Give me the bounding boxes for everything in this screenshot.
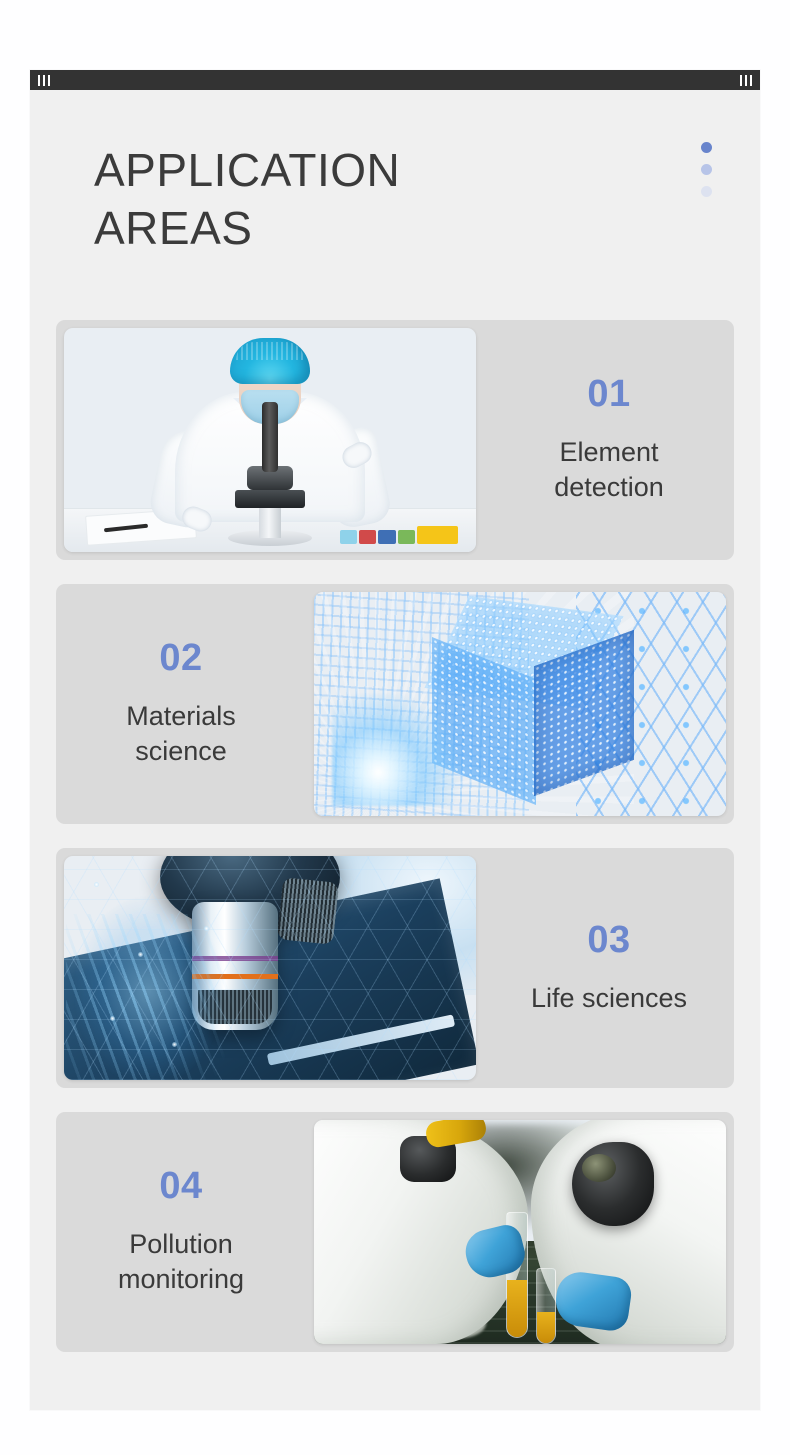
card-life-sciences[interactable]: 03 Life sciences xyxy=(56,848,734,1088)
card-number: 03 xyxy=(498,921,720,959)
pagination-dots[interactable] xyxy=(701,142,712,197)
card-number: 04 xyxy=(70,1167,292,1205)
menu-bars-icon-right[interactable] xyxy=(740,75,752,86)
application-area-list: 01 Element detection xyxy=(56,320,734,1352)
card-label: Life sciences xyxy=(498,981,720,1016)
card-text-element-detection: 01 Element detection xyxy=(484,375,734,504)
card-label: Pollution monitoring xyxy=(70,1227,292,1296)
card-number: 02 xyxy=(70,639,292,677)
card-text-pollution-monitoring: 04 Pollution monitoring xyxy=(56,1167,306,1296)
card-pollution-monitoring[interactable]: 04 Pollution monitoring xyxy=(56,1112,734,1352)
page-header: APPLICATION AREAS xyxy=(56,90,734,320)
card-label: Materials science xyxy=(70,699,292,768)
card-number: 01 xyxy=(498,375,720,413)
window-titlebar xyxy=(30,70,760,90)
browser-window: APPLICATION AREAS xyxy=(30,70,760,1410)
card-image-pollution-monitoring xyxy=(314,1120,726,1344)
card-image-element-detection xyxy=(64,328,476,552)
menu-bars-icon-left[interactable] xyxy=(38,75,50,86)
card-label: Element detection xyxy=(498,435,720,504)
page-title: APPLICATION AREAS xyxy=(94,142,524,257)
card-image-life-sciences xyxy=(64,856,476,1080)
card-text-life-sciences: 03 Life sciences xyxy=(484,921,734,1016)
page-root: APPLICATION AREAS xyxy=(0,0,790,1455)
pagination-dot-2[interactable] xyxy=(701,164,712,175)
window-content: APPLICATION AREAS xyxy=(30,90,760,1410)
card-image-materials-science xyxy=(314,592,726,816)
card-text-materials-science: 02 Materials science xyxy=(56,639,306,768)
card-element-detection[interactable]: 01 Element detection xyxy=(56,320,734,560)
pagination-dot-1[interactable] xyxy=(701,142,712,153)
card-materials-science[interactable]: 02 Materials science xyxy=(56,584,734,824)
pagination-dot-3[interactable] xyxy=(701,186,712,197)
